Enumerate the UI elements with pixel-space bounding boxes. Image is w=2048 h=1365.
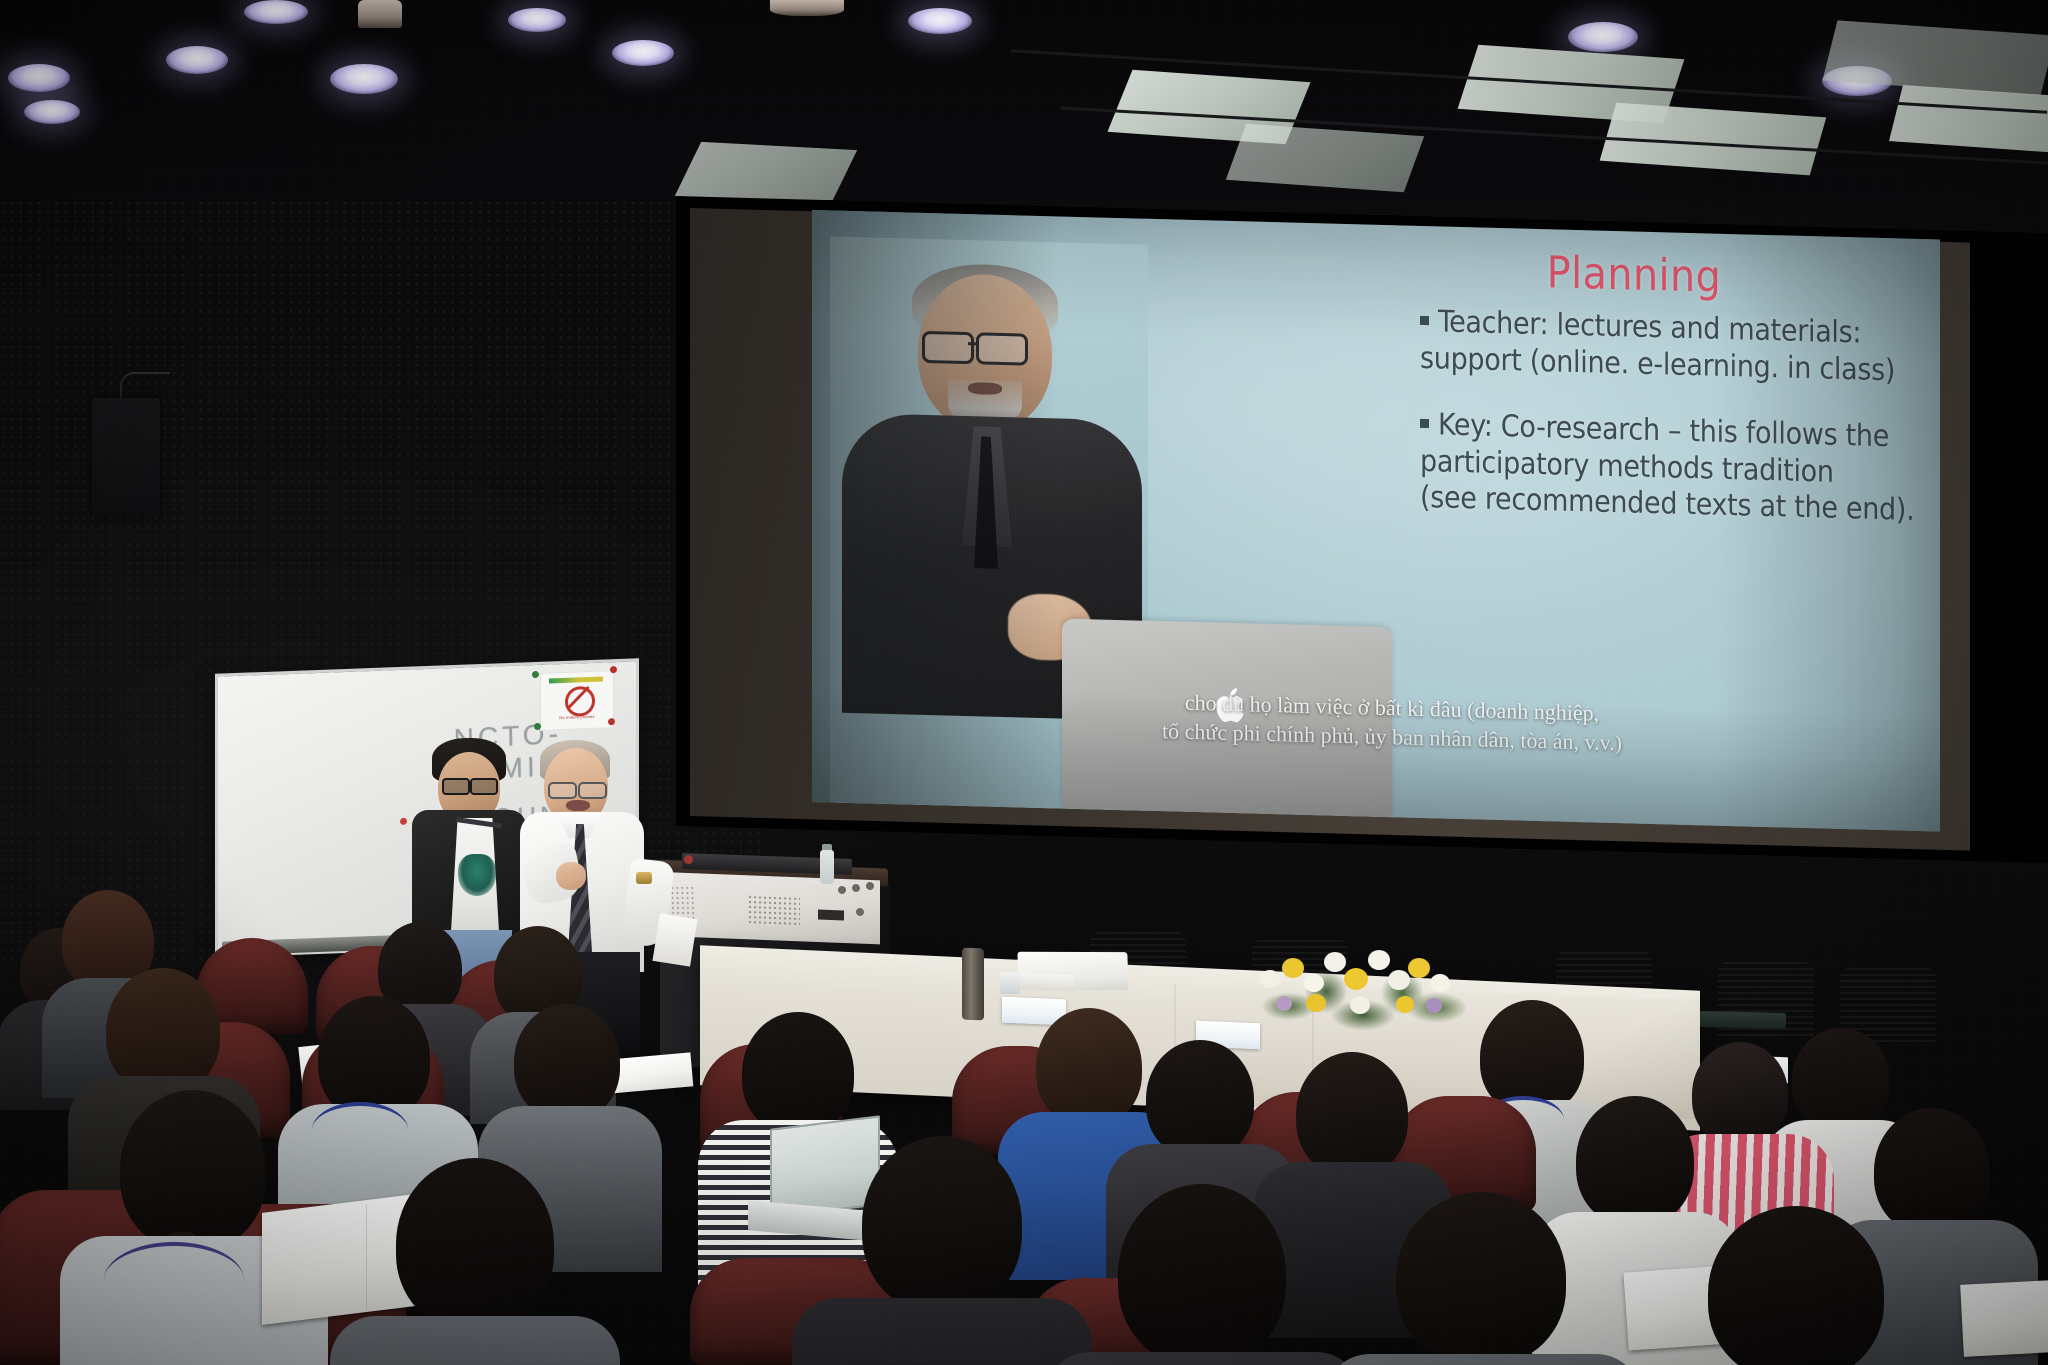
flower-bloom [1350, 996, 1370, 1014]
ceiling-downlight [908, 8, 972, 34]
flower-bloom [1306, 994, 1326, 1012]
ceiling-light-panel [675, 142, 857, 204]
sign-color-bar [549, 677, 603, 684]
lectern-control-knob[interactable] [856, 908, 864, 916]
slide-body: Teacher: lectures and materials: support… [1420, 304, 1920, 560]
projected-slide: cho dù họ làm việc ở bất kì đâu (doanh n… [812, 210, 1940, 832]
audience-head [514, 1004, 620, 1120]
young-man-glasses-left [442, 778, 470, 795]
flower-bloom [1324, 952, 1346, 972]
no-mobile-phones-sign: No mobile phones [540, 670, 614, 731]
older-man-glasses-right [578, 782, 607, 799]
lanyard [104, 1242, 244, 1318]
square-bullet-icon [1420, 315, 1429, 324]
audience-head [1396, 1192, 1566, 1365]
audience-head [1118, 1184, 1286, 1365]
ceiling-pendant [770, 0, 844, 16]
audience-head [120, 1090, 266, 1250]
older-man-handout [652, 913, 697, 966]
audience-head [742, 1012, 854, 1134]
audience-head [1036, 1008, 1142, 1126]
audience-head [1874, 1108, 1990, 1234]
lectern-red-button[interactable] [684, 855, 693, 864]
lanyard [312, 1102, 408, 1158]
whiteboard-magnet [610, 666, 617, 673]
slide-bullet-2: Key: Co-research – this follows the part… [1420, 407, 1920, 530]
printed-booklet [1960, 1279, 2048, 1357]
audience-head [862, 1136, 1022, 1312]
lectern-control-knob[interactable] [866, 882, 874, 890]
ceiling-downlight [244, 0, 308, 24]
slide-bullet-1: Teacher: lectures and materials: support… [1420, 304, 1920, 390]
tablet-device [1700, 1011, 1786, 1029]
lectern-control-knob[interactable] [852, 884, 860, 892]
slide-title: Planning [1424, 244, 1844, 306]
older-man-mouth [566, 800, 590, 811]
lectern-control-knob[interactable] [838, 886, 846, 894]
whiteboard-magnet [400, 818, 407, 825]
audience-head [1692, 1042, 1788, 1146]
audience-shoulders [330, 1316, 620, 1365]
flower-arrangement [1248, 940, 1478, 1026]
audience-head [1576, 1096, 1694, 1226]
older-man-glasses-left [548, 782, 577, 799]
ceiling-downlight [330, 64, 398, 94]
slide-person-glasses-right [976, 332, 1028, 365]
audience-head [1146, 1040, 1254, 1158]
flower-bloom [1396, 996, 1414, 1013]
whiteboard-magnet [532, 671, 539, 678]
audience-shoulders [1044, 1352, 1362, 1365]
lectern-vent [748, 895, 800, 927]
ceiling-downlight [24, 100, 80, 124]
ceiling-downlight [612, 40, 674, 66]
audience-head [1296, 1052, 1408, 1176]
audience-head [1792, 1028, 1890, 1132]
prohibition-circle-icon [565, 686, 595, 717]
older-man-hand [556, 862, 586, 890]
slide-bullet-2-line-3: (see recommended texts at the end). [1420, 480, 1914, 528]
audience-shoulders [1324, 1354, 1642, 1365]
slide-person-glasses-left [922, 331, 974, 364]
wall-speaker [92, 398, 160, 516]
flower-bloom [1304, 974, 1324, 992]
flower-bloom [1260, 970, 1280, 988]
flower-bloom [1408, 958, 1430, 978]
flower-bloom [1276, 996, 1292, 1011]
water-bottle [820, 850, 834, 884]
ceiling-downlight [8, 64, 70, 92]
notebook-gutter [366, 1204, 367, 1310]
young-man-bag-strap [448, 817, 502, 886]
flower-bloom [1368, 950, 1390, 970]
square-bullet-icon [1420, 419, 1429, 428]
flower-bloom [1426, 998, 1442, 1013]
ceiling-downlight [508, 8, 566, 32]
slide-person-mouth [968, 382, 1002, 395]
paper-cup [1000, 972, 1020, 994]
thermos-flask [962, 948, 984, 1021]
ceiling-pendant [358, 0, 402, 28]
older-man-wristwatch [636, 872, 652, 884]
ceiling-downlight [166, 46, 228, 74]
flower-bloom [1430, 974, 1450, 992]
photograph-scene: cho dù họ làm việc ở bất kì đâu (doanh n… [0, 0, 2048, 1365]
audience-head [396, 1158, 554, 1330]
young-man-glasses-right [470, 778, 498, 795]
flower-bloom [1282, 958, 1304, 978]
ceiling [0, 0, 2048, 215]
flower-bloom [1388, 970, 1410, 990]
flower-bloom [1344, 968, 1368, 990]
slide-person-glasses-bridge [968, 342, 978, 345]
sign-caption: No mobile phones [546, 713, 608, 720]
audience-shoulders [792, 1298, 1092, 1365]
audience-head [318, 996, 430, 1120]
ceiling-downlight [1568, 22, 1638, 52]
lectern-media-slot[interactable] [818, 910, 844, 921]
